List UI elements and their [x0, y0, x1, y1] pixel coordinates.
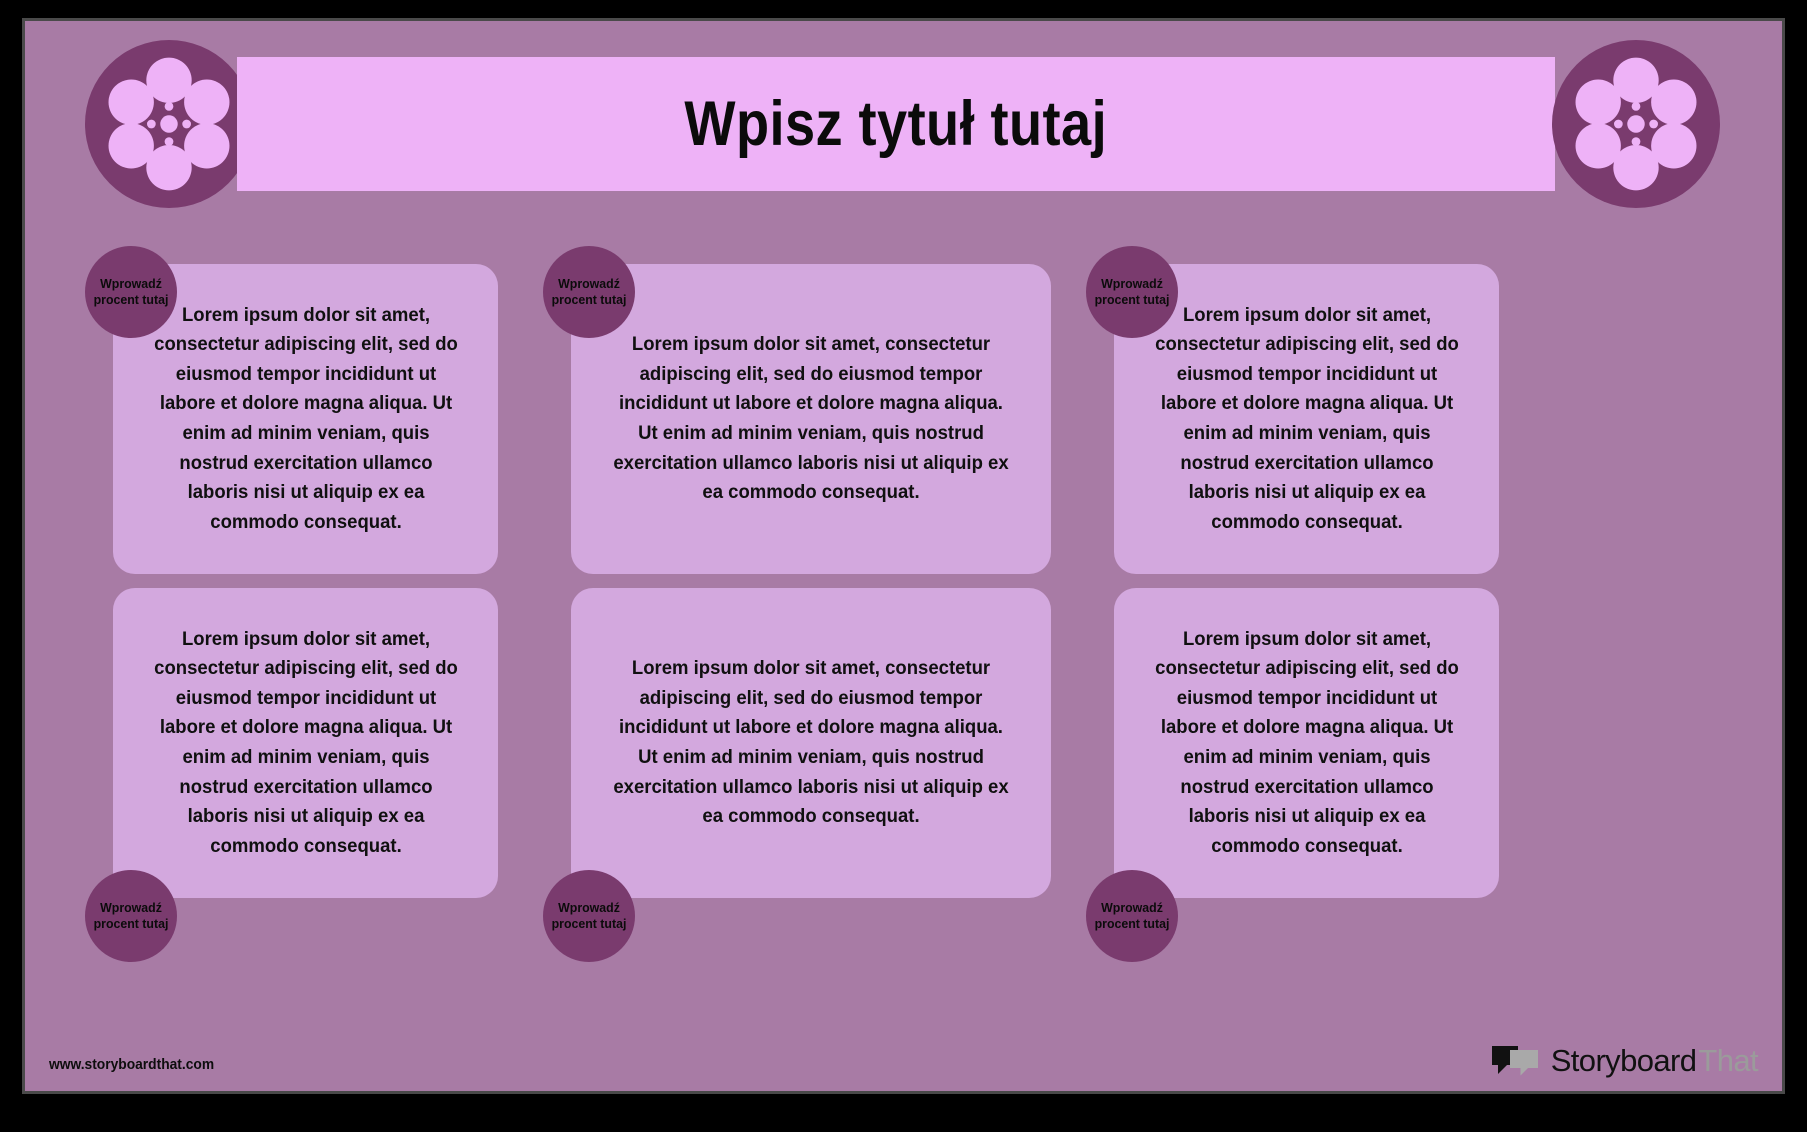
film-reel-icon	[85, 40, 253, 208]
content-card[interactable]: Lorem ipsum dolor sit amet, consectetur …	[1114, 588, 1499, 898]
film-reel-icon	[1552, 40, 1720, 208]
percent-badge[interactable]: Wprowadź procent tutaj	[1086, 870, 1178, 962]
content-card[interactable]: Lorem ipsum dolor sit amet, consectetur …	[571, 588, 1051, 898]
page-title[interactable]: Wpisz tytuł tutaj	[685, 88, 1108, 160]
percent-badge[interactable]: Wprowadź procent tutaj	[1086, 246, 1178, 338]
poster-frame: Wpisz tytuł tutaj	[0, 0, 1807, 1132]
percent-badge-label[interactable]: Wprowadź procent tutaj	[1088, 900, 1175, 932]
card-body-text[interactable]: Lorem ipsum dolor sit amet, consectetur …	[1150, 625, 1464, 862]
content-card[interactable]: Lorem ipsum dolor sit amet, consectetur …	[113, 588, 498, 898]
title-banner: Wpisz tytuł tutaj	[237, 57, 1555, 191]
percent-badge-label[interactable]: Wprowadź procent tutaj	[545, 276, 632, 308]
percent-badge[interactable]: Wprowadź procent tutaj	[85, 870, 177, 962]
card-body-text[interactable]: Lorem ipsum dolor sit amet, consectetur …	[149, 301, 463, 538]
content-card[interactable]: Lorem ipsum dolor sit amet, consectetur …	[571, 264, 1051, 574]
logo-word-that: That	[1698, 1043, 1758, 1079]
percent-badge-label[interactable]: Wprowadź procent tutaj	[87, 900, 174, 932]
speech-bubbles-icon	[1490, 1044, 1542, 1078]
percent-badge-label[interactable]: Wprowadź procent tutaj	[87, 276, 174, 308]
card-body-text[interactable]: Lorem ipsum dolor sit amet, consectetur …	[607, 330, 1016, 508]
poster-header: Wpisz tytuł tutaj	[25, 21, 1782, 221]
card-body-text[interactable]: Lorem ipsum dolor sit amet, consectetur …	[149, 625, 463, 862]
card-body-text[interactable]: Lorem ipsum dolor sit amet, consectetur …	[1150, 301, 1464, 538]
poster-canvas: Wpisz tytuł tutaj	[22, 18, 1785, 1094]
percent-badge[interactable]: Wprowadź procent tutaj	[543, 870, 635, 962]
footer-url[interactable]: www.storyboardthat.com	[49, 1056, 214, 1073]
percent-badge[interactable]: Wprowadź procent tutaj	[543, 246, 635, 338]
percent-badge-label[interactable]: Wprowadź procent tutaj	[545, 900, 632, 932]
percent-badge[interactable]: Wprowadź procent tutaj	[85, 246, 177, 338]
percent-badge-label[interactable]: Wprowadź procent tutaj	[1088, 276, 1175, 308]
card-body-text[interactable]: Lorem ipsum dolor sit amet, consectetur …	[607, 654, 1016, 832]
card-grid: Lorem ipsum dolor sit amet, consectetur …	[25, 246, 1782, 916]
logo-word-storyboard: Storyboard	[1551, 1043, 1697, 1079]
storyboardthat-logo[interactable]: Storyboard That	[1490, 1043, 1758, 1079]
